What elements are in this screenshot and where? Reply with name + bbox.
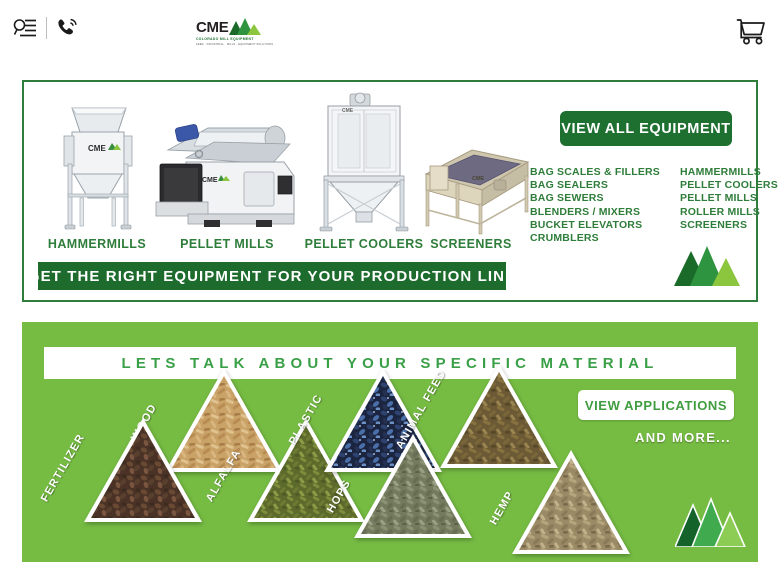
equipment-list-item[interactable]: BUCKET ELEVATORS — [530, 219, 660, 232]
equipment-list-item[interactable]: HAMMERMILLS — [680, 166, 778, 179]
svg-text:CME: CME — [342, 108, 354, 114]
equipment-list-item[interactable]: PELLET COOLERS — [680, 179, 778, 192]
equipment-list-item[interactable]: BAG SEWERS — [530, 192, 660, 205]
production-line-banner-text: GET THE RIGHT EQUIPMENT FOR YOUR PRODUCT… — [28, 268, 516, 285]
view-applications-button[interactable]: VIEW APPLICATIONS — [578, 390, 734, 420]
equipment-list-item[interactable]: ROLLER MILLS — [680, 206, 778, 219]
materials-panel: LETS TALK ABOUT YOUR SPECIFIC MATERIAL — [22, 322, 758, 562]
header-divider — [46, 17, 47, 39]
logo-mark-row: CME — [196, 18, 261, 35]
and-more-label: AND MORE... — [635, 430, 731, 445]
logo-subtagline: FEED · INDUSTRIAL · MILLS · EQUIPMENT SO… — [196, 43, 273, 46]
cart-button[interactable] — [736, 18, 766, 50]
production-line-banner: GET THE RIGHT EQUIPMENT FOR YOUR PRODUCT… — [38, 262, 506, 290]
machine-photo-pellet-mills[interactable]: CME — [152, 102, 302, 234]
cme-logo[interactable]: CME COLORADO MILL EQUIPMENT FEED · INDUS… — [196, 18, 296, 46]
logo-wordmark: CME — [196, 20, 228, 35]
equipment-list-item[interactable]: BLENDERS / MIXERS — [530, 206, 660, 219]
svg-text:CME: CME — [472, 176, 485, 182]
equipment-list-item[interactable]: SCREENERS — [680, 219, 778, 232]
machine-photo-pellet-coolers[interactable]: CME — [306, 92, 422, 234]
cme-mountain-logo-materials — [675, 497, 747, 547]
material-label-fertilizer: FERTILIZER — [39, 432, 88, 504]
equipment-category-lists: BAG SCALES & FILLERS BAG SEALERS BAG SEW… — [530, 166, 778, 245]
material-triangle-hemp[interactable] — [512, 450, 630, 559]
equipment-list-item[interactable]: BAG SCALES & FILLERS — [530, 166, 660, 179]
search-lines-icon[interactable] — [12, 16, 38, 40]
equipment-list-item[interactable]: BAG SEALERS — [530, 179, 660, 192]
material-triangle-fertilizer[interactable] — [84, 418, 202, 527]
machine-label-pellet-mills: PELLET MILLS — [152, 237, 302, 251]
machine-photo-screeners[interactable]: CME — [416, 140, 536, 238]
svg-text:CME: CME — [88, 144, 106, 153]
equipment-panel: CME HAMMERMILLS — [22, 80, 758, 302]
machine-label-screeners: SCREENERS — [406, 237, 536, 251]
equipment-list-column-2: HAMMERMILLS PELLET COOLERS PELLET MILLS … — [680, 166, 778, 245]
equipment-list-column-1: BAG SCALES & FILLERS BAG SEALERS BAG SEW… — [530, 166, 660, 245]
cme-mountain-logo-equipment — [674, 244, 744, 286]
shopping-cart-icon — [736, 18, 766, 45]
equipment-list-item[interactable]: PELLET MILLS — [680, 192, 778, 205]
equipment-list-item[interactable]: CRUMBLERS — [530, 232, 660, 245]
header-left-icons — [12, 16, 79, 40]
machine-photo-hammermills[interactable]: CME — [42, 102, 152, 234]
logo-mountain-icon — [229, 18, 261, 35]
logo-tagline: COLORADO MILL EQUIPMENT — [196, 37, 254, 41]
site-header: CME COLORADO MILL EQUIPMENT FEED · INDUS… — [0, 0, 780, 70]
phone-ring-icon[interactable] — [55, 16, 79, 40]
machine-label-hammermills: HAMMERMILLS — [32, 237, 162, 251]
svg-text:CME: CME — [202, 177, 218, 184]
view-all-equipment-button[interactable]: VIEW ALL EQUIPMENT — [560, 111, 732, 146]
